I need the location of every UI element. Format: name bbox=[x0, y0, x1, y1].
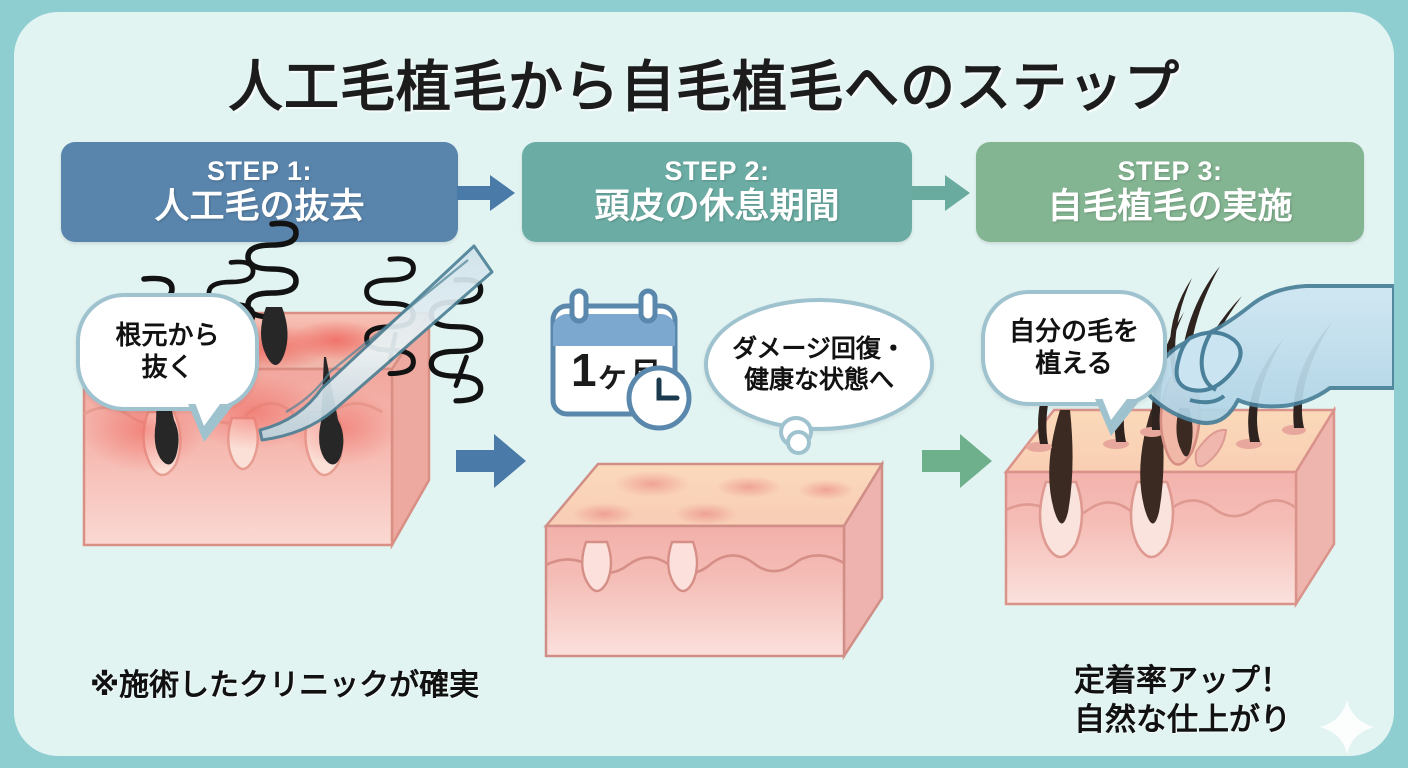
calendar-label: 1 bbox=[571, 344, 597, 396]
step-1-caption: ※施術したクリニックが確実 bbox=[90, 667, 479, 705]
step-header-1-en: STEP 1: bbox=[207, 157, 312, 185]
speech-bubble-step-3-text: 自分の毛を 植える bbox=[1009, 316, 1139, 379]
speech-bubble-step-1-text: 根元から 抜く bbox=[115, 320, 219, 383]
step-header-2-jp: 頭皮の休息期間 bbox=[594, 187, 839, 227]
sparkle-icon bbox=[1320, 700, 1374, 754]
step-header-3-jp: 自毛植毛の実施 bbox=[1047, 187, 1292, 227]
speech-bubble-step-3: 自分の毛を 植える bbox=[981, 290, 1167, 406]
thought-dot-small bbox=[786, 430, 811, 455]
step-2-illustration bbox=[534, 442, 934, 672]
thought-bubble-step-2: ダメージ回復・ 健康な状態へ bbox=[704, 298, 934, 431]
gloved-hand-icon bbox=[1148, 286, 1394, 423]
calendar-group: 1 ヶ月 bbox=[541, 288, 721, 433]
infographic-canvas: 人工毛植毛から自毛植毛へのステップ STEP 1: 人工毛の抜去 STEP 2:… bbox=[14, 12, 1394, 756]
skin-block-healing bbox=[546, 464, 882, 656]
step-header-2-en: STEP 2: bbox=[664, 157, 769, 185]
bubble-tail-3 bbox=[1095, 399, 1141, 436]
flow-arrow-2-icon bbox=[922, 432, 992, 490]
speech-bubble-step-1: 根元から 抜く bbox=[76, 293, 259, 411]
thought-bubble-step-2-text: ダメージ回復・ 健康な状態へ bbox=[732, 334, 906, 395]
step-header-1-jp: 人工毛の抜去 bbox=[154, 187, 364, 227]
clock-icon bbox=[629, 368, 689, 428]
bubble-tail-1 bbox=[188, 404, 234, 442]
step-header-2[interactable]: STEP 2: 頭皮の休息期間 bbox=[522, 142, 912, 242]
step-header-1[interactable]: STEP 1: 人工毛の抜去 bbox=[61, 142, 458, 242]
page-title: 人工毛植毛から自毛植毛へのステップ bbox=[14, 42, 1394, 122]
step-header-3-en: STEP 3: bbox=[1117, 157, 1222, 185]
flow-arrow-1-icon bbox=[456, 432, 526, 490]
header-arrow-1-icon bbox=[457, 175, 515, 211]
step-3-caption: 定着率アップ！ 自然な仕上がり bbox=[1074, 662, 1291, 740]
outer-frame: 人工毛植毛から自毛植毛へのステップ STEP 1: 人工毛の抜去 STEP 2:… bbox=[0, 0, 1408, 768]
step-header-3[interactable]: STEP 3: 自毛植毛の実施 bbox=[976, 142, 1364, 242]
header-arrow-2-icon bbox=[912, 175, 970, 211]
